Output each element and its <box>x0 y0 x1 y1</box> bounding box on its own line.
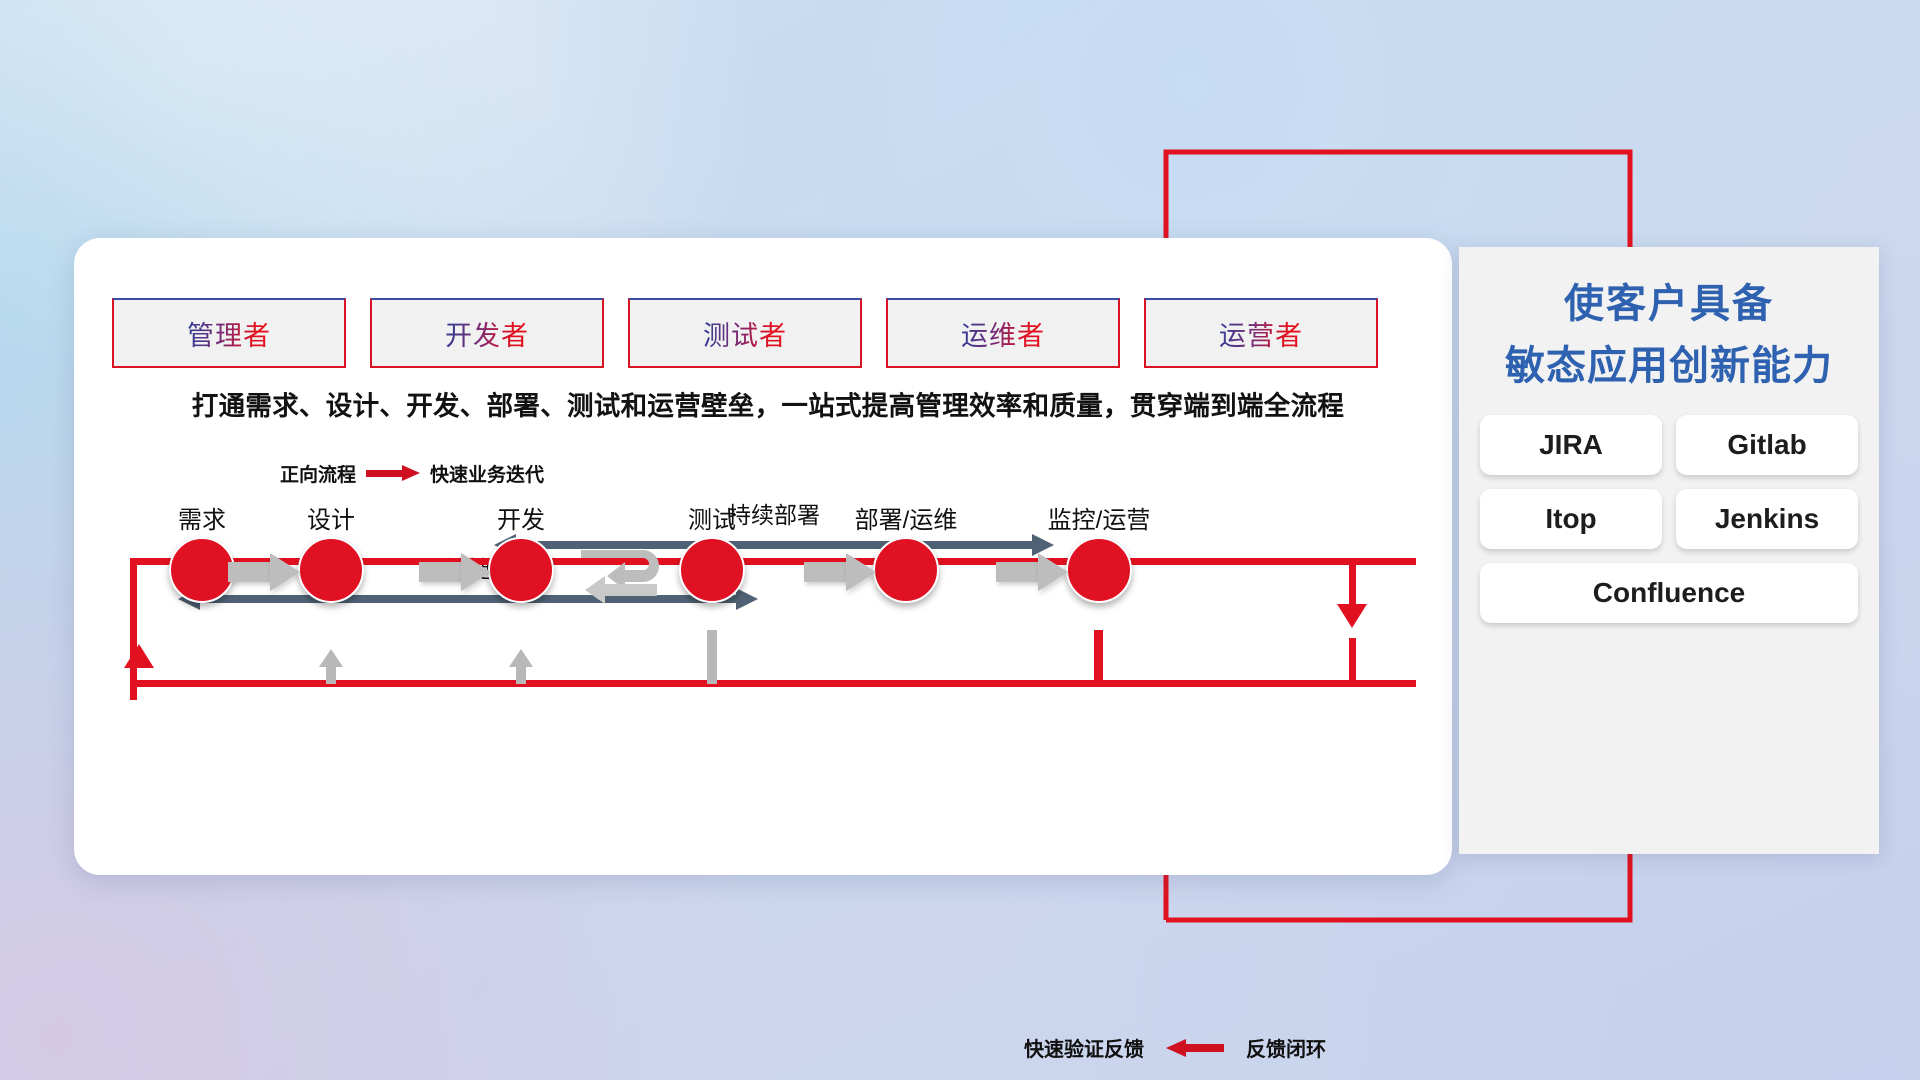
legend-feedback-right-label: 反馈闭环 <box>1246 1033 1326 1062</box>
stage-node-circle <box>873 537 939 603</box>
stage-label: 需求 <box>132 500 272 535</box>
stage-node-circle <box>488 537 554 603</box>
tool-chip-confluence[interactable]: Confluence <box>1480 563 1858 623</box>
legend-feedback-left-label: 快速验证反馈 <box>1024 1033 1144 1062</box>
tool-label: Gitlab <box>1727 429 1806 461</box>
tool-chip-jenkins[interactable]: Jenkins <box>1676 489 1858 549</box>
tool-label: Itop <box>1545 503 1596 535</box>
stage-node-circle <box>169 537 235 603</box>
tool-chip-gitlab[interactable]: Gitlab <box>1676 415 1858 475</box>
stage-label: 部署/运维 <box>836 500 976 535</box>
tool-label: JIRA <box>1539 429 1603 461</box>
stage-node-circle <box>298 537 364 603</box>
tool-label: Confluence <box>1593 577 1745 609</box>
arrow-left-red-icon <box>1166 1040 1224 1056</box>
arrow-right-gray-icon <box>996 553 1068 591</box>
stage-label: 开发 <box>451 500 591 535</box>
arrow-right-gray-icon <box>228 553 300 591</box>
stage-node-circle <box>1066 537 1132 603</box>
tool-chip-list: JIRA Gitlab Itop Jenkins Confluence <box>1459 415 1879 623</box>
capability-panel: 使客户具备 敏态应用创新能力 JIRA Gitlab Itop Jenkins … <box>1459 247 1879 854</box>
tool-chip-itop[interactable]: Itop <box>1480 489 1662 549</box>
tool-label: Jenkins <box>1715 503 1819 535</box>
arrow-right-gray-icon <box>419 553 491 591</box>
arrow-right-gray-icon <box>804 553 876 591</box>
tool-chip-jira[interactable]: JIRA <box>1480 415 1662 475</box>
capability-title-line2: 敏态应用创新能力 <box>1459 335 1879 397</box>
arrow-uturn-gray-icon <box>579 544 675 610</box>
stage-label: 测试 <box>642 500 782 535</box>
capability-panel-title: 使客户具备 敏态应用创新能力 <box>1459 247 1879 397</box>
legend-feedback-loop: 快速验证反馈 反馈闭环 <box>1024 1033 1326 1062</box>
stage-label: 监控/运营 <box>1029 500 1169 535</box>
stage-node-circle <box>679 537 745 603</box>
stage-label: 设计 <box>261 500 401 535</box>
main-diagram-card: 管理者 开发者 测试者 运维者 运营者 打通需求、设计、开发、部署、测试和运营壁… <box>74 238 1452 875</box>
capability-title-line1: 使客户具备 <box>1459 273 1879 335</box>
